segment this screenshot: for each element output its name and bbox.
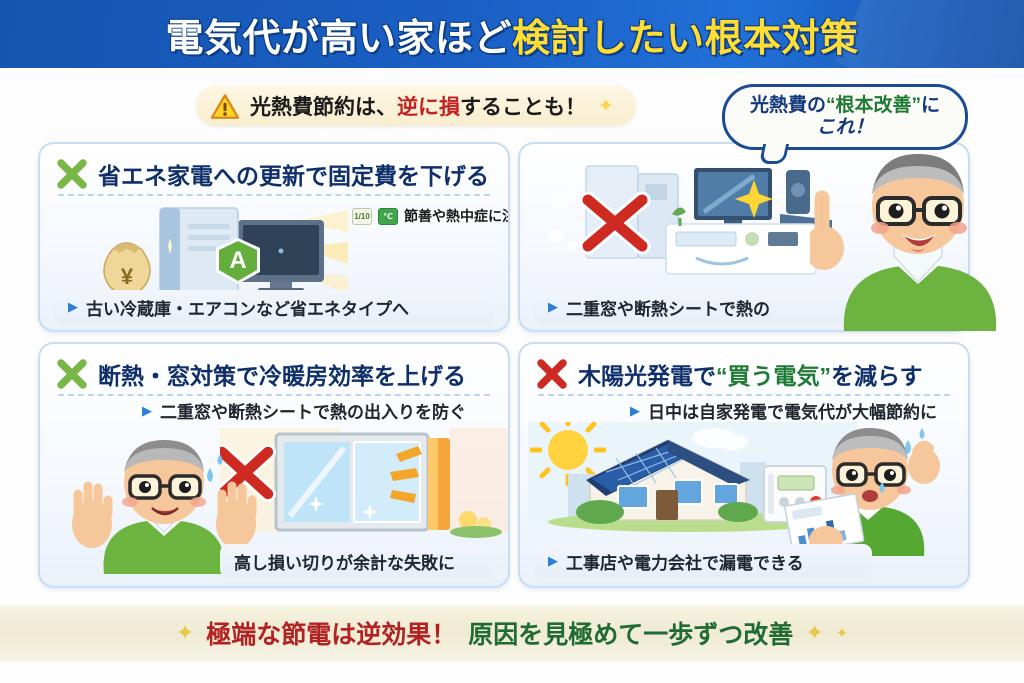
heat-block-panel — [428, 438, 450, 530]
card3-title-a: 断熱・窓対策で — [98, 363, 259, 389]
card1-header: 省エネ家電への更新で固定費を下げる — [54, 154, 498, 194]
card3-subcaption-text: 二重窓や断熱シートで熱の出入りを防ぐ — [160, 398, 466, 423]
card3-title-b: 冷暖房効率 — [259, 363, 374, 389]
card3-bottom-caption-text: 高し損い切りが余計な失敗に — [234, 549, 455, 574]
card4-title-c: を減らす — [831, 363, 923, 389]
footer-text-green: 原因を見極めて一歩ずつ改善 — [468, 615, 793, 651]
card4-bottom-caption: ▶ 工事店や電力会社で漏電できる — [534, 544, 872, 578]
temp-chip: ℃ — [378, 208, 398, 225]
card3-subcaption: ▶ 二重窓や断熱シートで熱の出入りを防ぐ — [142, 398, 466, 423]
card1-caption-text: 古い冷蔵庫・エアコンなど省エネタイプへ — [86, 295, 409, 320]
title-yellow-part: 検討したい根本対策 — [512, 7, 859, 62]
ratio-chip: 1/10 — [352, 208, 372, 225]
card4-title-a: 木陽光発電で — [578, 363, 716, 389]
sb-part-c: に — [921, 95, 940, 116]
header-banner: 電気代が高い家ほど 検討したい根本対策 — [0, 0, 1024, 68]
card3-bottom-caption: 高し損い切りが余計な失敗に — [220, 544, 494, 578]
card4-header: 木陽光発電で“買う電気”を減らす — [534, 354, 958, 394]
green-x-icon — [54, 157, 90, 191]
card3-title-c: を上げる — [374, 363, 466, 389]
subtitle-red: 逆に損 — [397, 96, 460, 119]
title-white-part: 電気代が高い家ほど — [165, 7, 512, 62]
card4-title: 木陽光発電で“買う電気”を減らす — [578, 357, 923, 391]
sb-part-a: 光熱費の — [750, 95, 826, 116]
card1-title-b: 固定費 — [328, 163, 397, 189]
caption-arrow-icon: ▶ — [548, 299, 558, 315]
money-bag-icon: ¥ — [104, 243, 150, 294]
card-solar-power: 木陽光発電で“買う電気”を減らす ▶ 日中は自家発電で電気代が大幅節約に — [518, 342, 970, 588]
card4-title-b: “買う電気” — [716, 363, 831, 389]
card4-bottom-caption-text: 工事店や電力会社で漏電できる — [566, 549, 804, 574]
green-x-icon — [54, 357, 90, 391]
card-insulation-window: 断熱・窓対策で冷暖房効率を上げる ▶ 二重窓や断熱シートで熱の出入りを防ぐ — [38, 342, 510, 588]
av-rack-cabinet — [666, 224, 816, 274]
speaker-tall — [786, 170, 810, 214]
card3-header: 断熱・窓対策で冷暖房効率を上げる — [54, 354, 498, 394]
sparkle-icon: ✦ — [598, 95, 614, 118]
card1-note: 1/10 ℃ 節善や熱中症に注憲！ — [352, 206, 510, 226]
character-worried-man-with-bill — [782, 418, 962, 563]
card1-caption: ▶ 古い冷蔵庫・エアコンなど省エネタイプへ — [54, 290, 494, 324]
card2-caption-text: 二重窓や断熱シートで熱の — [566, 295, 770, 320]
footer-banner: ✦ 極端な節電は逆効果！ 原因を見極めて一歩ずつ改善 ✦ ✦ — [0, 604, 1024, 662]
card4-divider — [538, 394, 950, 396]
steam-decor — [549, 188, 577, 251]
subtitle-after: することも！ — [460, 96, 586, 119]
sparkle-icon-right-2: ✦ — [836, 624, 849, 642]
raised-hand-left — [72, 486, 112, 548]
caption-arrow-icon: ▶ — [630, 403, 640, 419]
infographic-page: 電気代が高い家ほど 検討したい根本対策 光熱費節約は、逆に損することも！ ✦ 光… — [0, 0, 1024, 683]
caption-arrow-icon: ▶ — [68, 299, 78, 315]
character-pointing-man — [810, 128, 1024, 338]
red-x-icon — [534, 357, 570, 391]
card1-note-text: 節善や熱中症に注憲！ — [404, 206, 510, 226]
caption-arrow-icon: ▶ — [548, 553, 558, 569]
sweat-drop-icon — [207, 454, 223, 482]
warning-triangle-icon — [210, 93, 240, 120]
caption-arrow-icon: ▶ — [142, 403, 152, 419]
card1-title-a: 省エネ家電への更新で — [98, 163, 328, 189]
card1-divider — [58, 194, 490, 196]
speech-bubble-line-1: 光熱費の“根本改善”に — [750, 95, 940, 117]
sparkle-icon-left: ✦ — [176, 620, 194, 646]
card1-title-c: を下げる — [397, 163, 489, 189]
window-frame — [276, 434, 428, 530]
card3-divider — [58, 394, 490, 396]
speech-bubble: 光熱費の“根本改善”に これ！ — [722, 84, 968, 150]
svg-text:¥: ¥ — [121, 264, 134, 289]
hand-on-head — [908, 445, 940, 484]
card1-title: 省エネ家電への更新で固定費を下げる — [98, 157, 489, 191]
svg-text:A: A — [229, 247, 246, 274]
raised-hand-right — [216, 486, 256, 548]
pointing-hand-icon — [810, 198, 844, 270]
subtitle-pill: 光熱費節約は、逆に損することも！ ✦ — [196, 86, 636, 126]
speech-bubble-line-2: これ！ — [816, 117, 873, 139]
av-rack-tv-speakers-red-x — [546, 162, 846, 284]
sparkle-icon-right: ✦ — [805, 620, 823, 646]
page-title: 電気代が高い家ほど 検討したい根本対策 — [0, 0, 1024, 68]
sb-part-b: “根本改善” — [826, 95, 921, 116]
subtitle-text: 光熱費節約は、逆に損することも！ — [250, 91, 586, 121]
card-energy-efficient-appliances: 省エネ家電への更新で固定費を下げる — [38, 142, 510, 332]
card3-title: 断熱・窓対策で冷暖房効率を上げる — [98, 357, 466, 391]
footer-text-red: 極端な節電は逆効果！ — [206, 615, 456, 651]
subtitle-before: 光熱費節約は、 — [250, 96, 397, 119]
